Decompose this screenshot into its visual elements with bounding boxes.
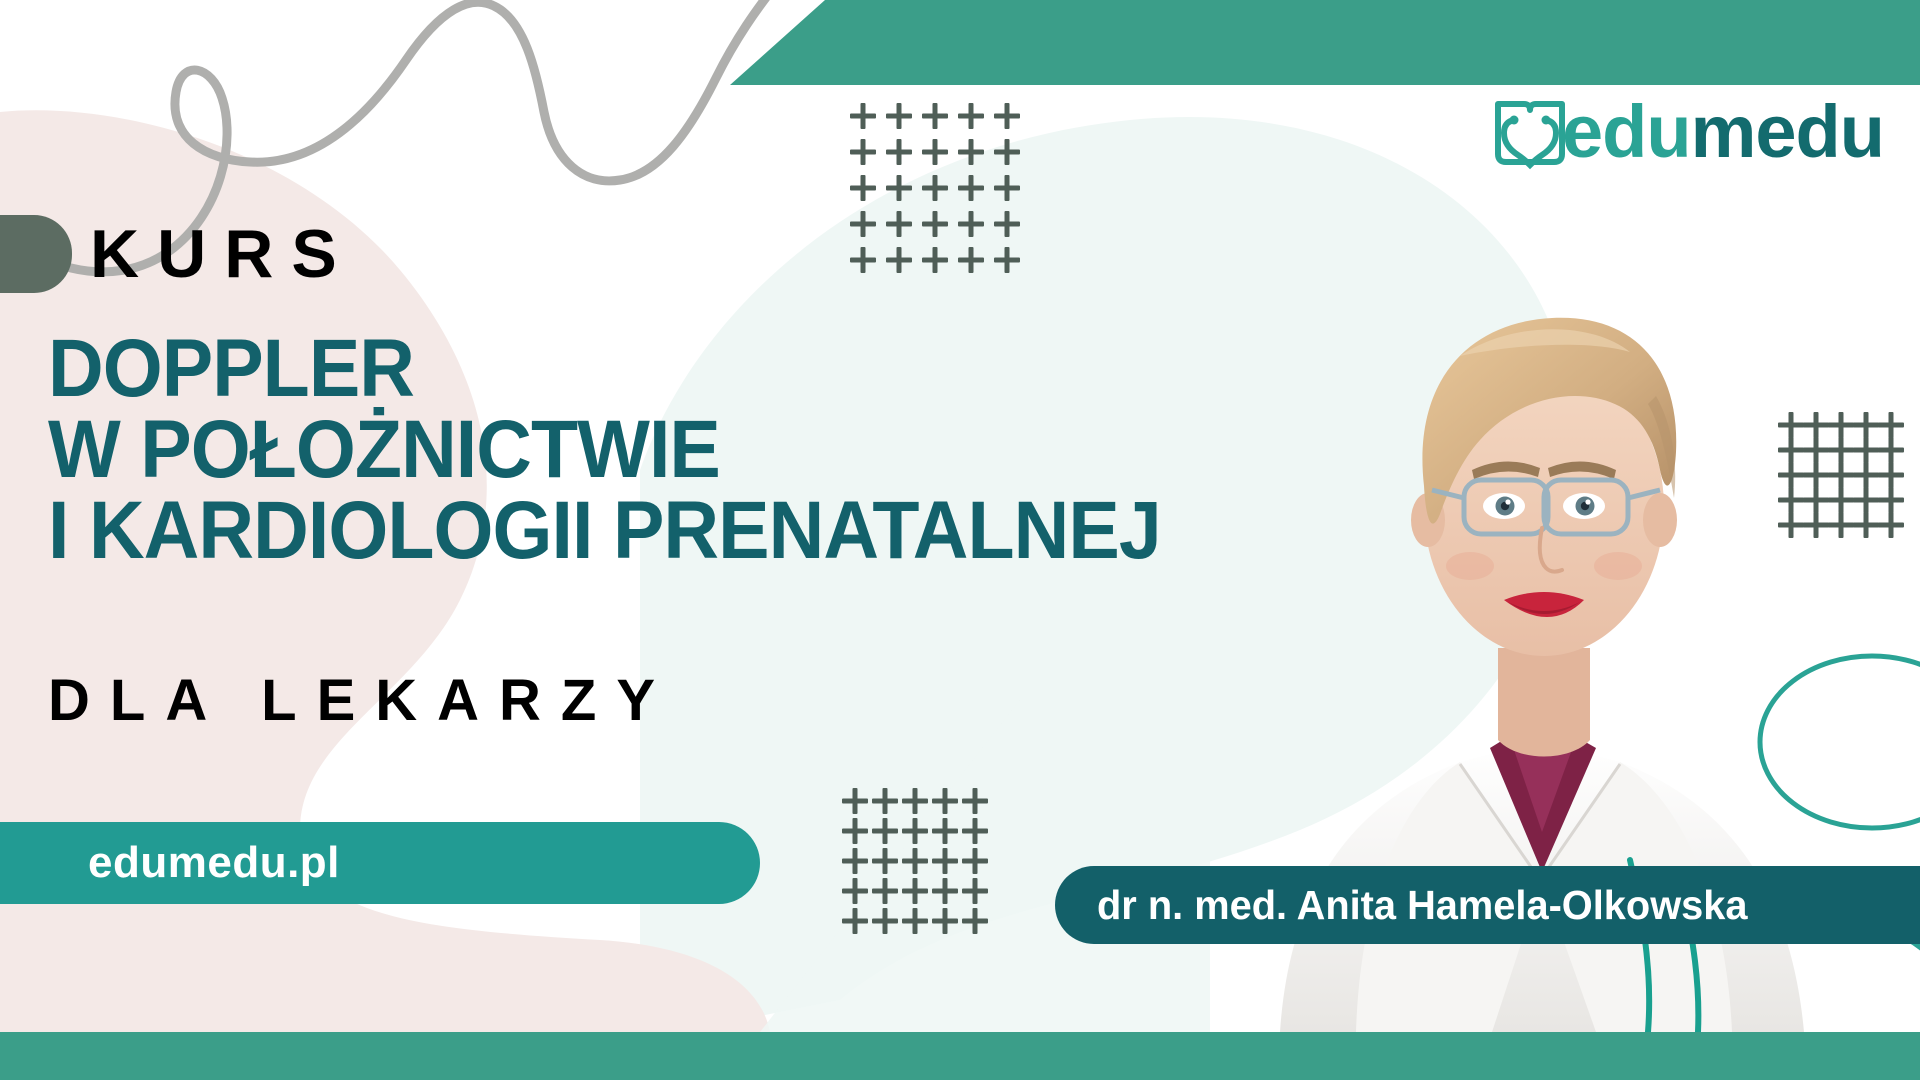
title-line-2: W POŁOŻNICTWIE: [48, 409, 1161, 490]
logo-wordmark: edumedu: [1562, 95, 1884, 169]
plus-icon: [1778, 412, 1803, 437]
logo-word-edu: edu: [1562, 90, 1691, 173]
plus-icon: [1878, 512, 1903, 537]
promo-banner: edumedu KURS DOPPLER W POŁOŻNICTWIE I KA…: [0, 0, 1920, 1080]
plus-icon: [1778, 437, 1803, 462]
plus-icon: [1828, 412, 1853, 437]
plus-icon: [1778, 512, 1803, 537]
plus-grid-right: [1778, 412, 1903, 537]
left-content-column: KURS DOPPLER W POŁOŻNICTWIE I KARDIOLOGI…: [0, 0, 1100, 1080]
presenter-name-badge: dr n. med. Anita Hamela-Olkowska: [1055, 866, 1920, 944]
logo-word-medu: medu: [1691, 90, 1884, 173]
course-audience-subtitle: DLA LEKARZY: [48, 672, 675, 730]
plus-icon: [1878, 437, 1903, 462]
website-url-label: edumedu.pl: [88, 841, 340, 885]
plus-icon: [1878, 487, 1903, 512]
eyebrow-accent-pill: [0, 215, 72, 293]
edumedu-book-heart-stethoscope-icon: [1492, 92, 1568, 172]
presenter-name-label: dr n. med. Anita Hamela-Olkowska: [1097, 885, 1748, 926]
eyebrow-label: KURS: [90, 220, 355, 288]
plus-icon: [1853, 512, 1878, 537]
plus-icon: [1803, 437, 1828, 462]
plus-icon: [1853, 412, 1878, 437]
plus-icon: [1803, 487, 1828, 512]
website-url-button[interactable]: edumedu.pl: [0, 822, 760, 904]
plus-icon: [1828, 437, 1853, 462]
plus-icon: [1878, 412, 1903, 437]
plus-icon: [1778, 462, 1803, 487]
plus-icon: [1853, 437, 1878, 462]
plus-icon: [1828, 487, 1853, 512]
title-line-3: I KARDIOLOGII PRENATALNEJ: [48, 490, 1161, 571]
edumedu-logo[interactable]: edumedu: [1492, 92, 1884, 172]
plus-icon: [1828, 512, 1853, 537]
plus-icon: [1803, 412, 1828, 437]
course-title: DOPPLER W POŁOŻNICTWIE I KARDIOLOGII PRE…: [48, 328, 1161, 572]
plus-icon: [1878, 462, 1903, 487]
plus-icon: [1778, 487, 1803, 512]
eyebrow-row: KURS: [0, 212, 355, 296]
title-line-1: DOPPLER: [48, 328, 1161, 409]
plus-icon: [1853, 462, 1878, 487]
plus-icon: [1853, 487, 1878, 512]
plus-icon: [1803, 462, 1828, 487]
plus-icon: [1828, 462, 1853, 487]
plus-icon: [1803, 512, 1828, 537]
bottom-teal-band: [0, 1032, 1920, 1080]
